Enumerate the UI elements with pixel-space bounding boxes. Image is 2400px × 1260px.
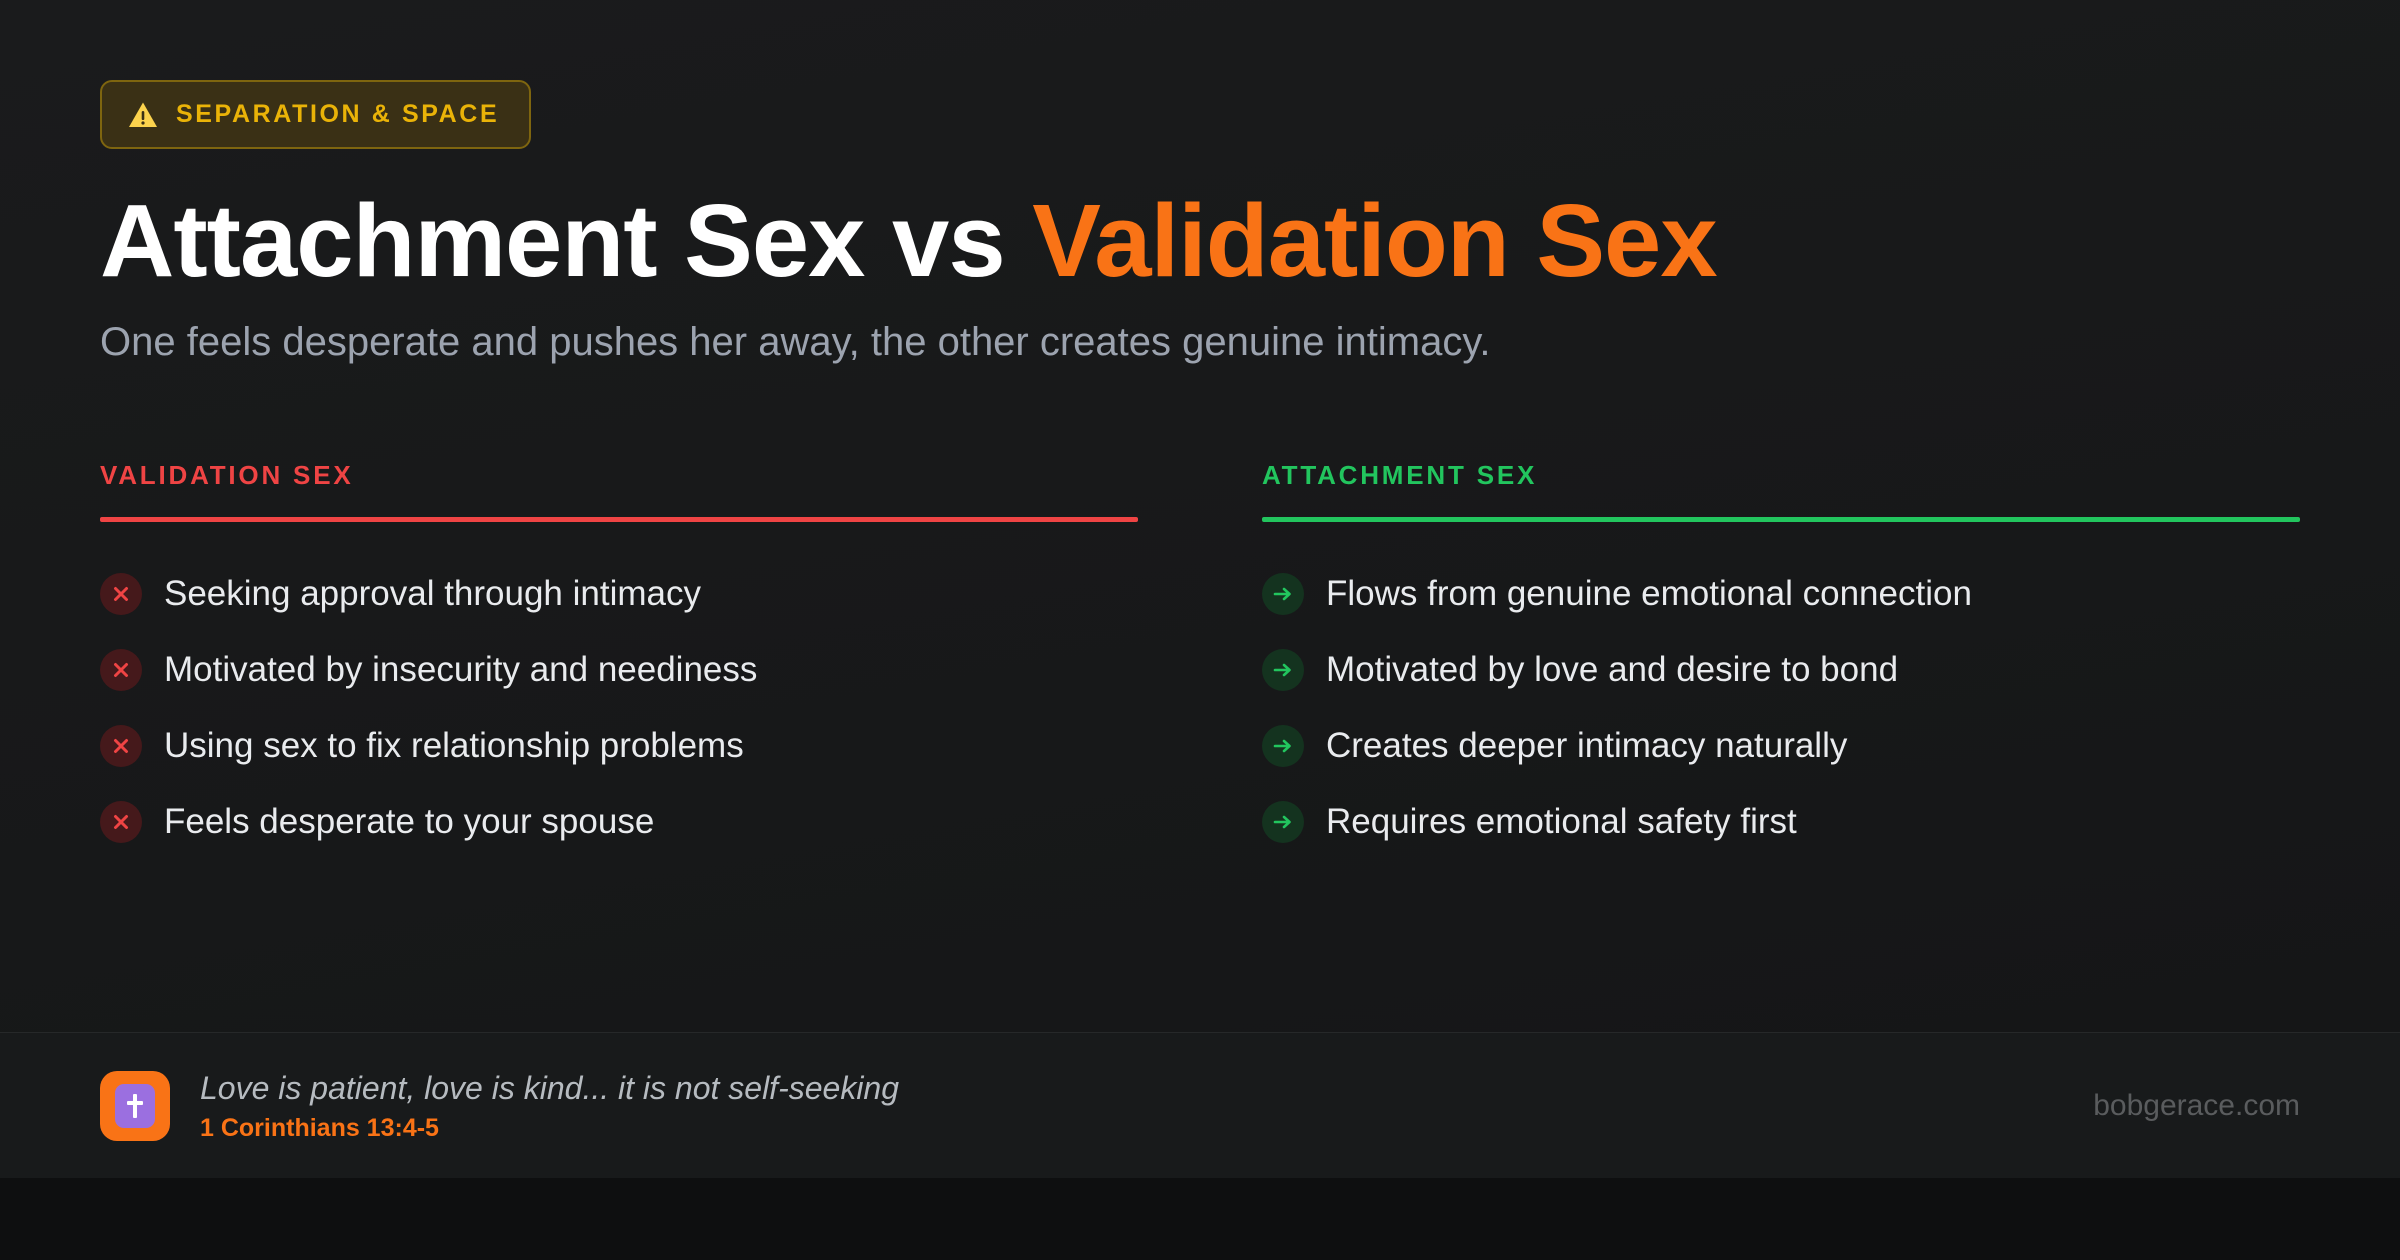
list-item-label: Requires emotional safety first <box>1326 802 1797 842</box>
arrow-right-circle-icon <box>1262 801 1304 843</box>
page-title-main: Attachment Sex vs <box>100 183 1032 298</box>
column-validation-sex: VALIDATION SEX Seeking approval through … <box>100 460 1138 860</box>
column-rule-attachment-sex <box>1262 517 2300 522</box>
slide-root: SEPARATION & SPACE Attachment Sex vs Val… <box>0 0 2400 1260</box>
cross-icon-inner <box>115 1084 155 1128</box>
arrow-right-circle-icon <box>1262 649 1304 691</box>
column-rule-validation-sex <box>100 517 1138 522</box>
column-heading-validation-sex: VALIDATION SEX <box>100 460 1138 517</box>
column-attachment-sex: ATTACHMENT SEX Flows from genuine emotio… <box>1262 460 2300 860</box>
list-item: Using sex to fix relationship problems <box>100 708 1138 784</box>
bottom-strip <box>0 1178 2400 1260</box>
footer-scripture: Love is patient, love is kind... it is n… <box>100 1068 899 1143</box>
footer-reference: 1 Corinthians 13:4-5 <box>200 1114 899 1143</box>
list-item-label: Using sex to fix relationship problems <box>164 726 744 766</box>
list-validation-sex: Seeking approval through intimacy Motiva… <box>100 556 1138 860</box>
list-item: Flows from genuine emotional connection <box>1262 556 2300 632</box>
list-item: Seeking approval through intimacy <box>100 556 1138 632</box>
list-item: Requires emotional safety first <box>1262 784 2300 860</box>
list-item-label: Creates deeper intimacy naturally <box>1326 726 1847 766</box>
comparison-columns: VALIDATION SEX Seeking approval through … <box>100 460 2300 860</box>
arrow-right-circle-icon <box>1262 725 1304 767</box>
warning-triangle-icon <box>128 101 158 129</box>
page-title: Attachment Sex vs Validation Sex <box>100 187 2300 294</box>
x-circle-icon <box>100 801 142 843</box>
cross-icon <box>100 1071 170 1141</box>
list-item-label: Motivated by insecurity and neediness <box>164 650 757 690</box>
list-item-label: Flows from genuine emotional connection <box>1326 574 1972 614</box>
footer-bar: Love is patient, love is kind... it is n… <box>0 1032 2400 1178</box>
list-item: Creates deeper intimacy naturally <box>1262 708 2300 784</box>
footer-site-url: bobgerace.com <box>2093 1089 2300 1123</box>
list-item: Motivated by insecurity and neediness <box>100 632 1138 708</box>
page-subtitle: One feels desperate and pushes her away,… <box>100 320 2300 365</box>
column-heading-attachment-sex: ATTACHMENT SEX <box>1262 460 2300 517</box>
category-badge-label: SEPARATION & SPACE <box>176 100 499 129</box>
arrow-right-circle-icon <box>1262 573 1304 615</box>
list-item-label: Feels desperate to your spouse <box>164 802 654 842</box>
header-section: SEPARATION & SPACE Attachment Sex vs Val… <box>100 0 2300 365</box>
list-attachment-sex: Flows from genuine emotional connection … <box>1262 556 2300 860</box>
footer-quote: Love is patient, love is kind... it is n… <box>200 1068 899 1108</box>
category-badge: SEPARATION & SPACE <box>100 80 531 149</box>
list-item: Motivated by love and desire to bond <box>1262 632 2300 708</box>
page-title-accent: Validation Sex <box>1032 183 1716 298</box>
list-item-label: Seeking approval through intimacy <box>164 574 701 614</box>
x-circle-icon <box>100 573 142 615</box>
list-item-label: Motivated by love and desire to bond <box>1326 650 1898 690</box>
x-circle-icon <box>100 725 142 767</box>
footer-scripture-text: Love is patient, love is kind... it is n… <box>200 1068 899 1143</box>
list-item: Feels desperate to your spouse <box>100 784 1138 860</box>
x-circle-icon <box>100 649 142 691</box>
